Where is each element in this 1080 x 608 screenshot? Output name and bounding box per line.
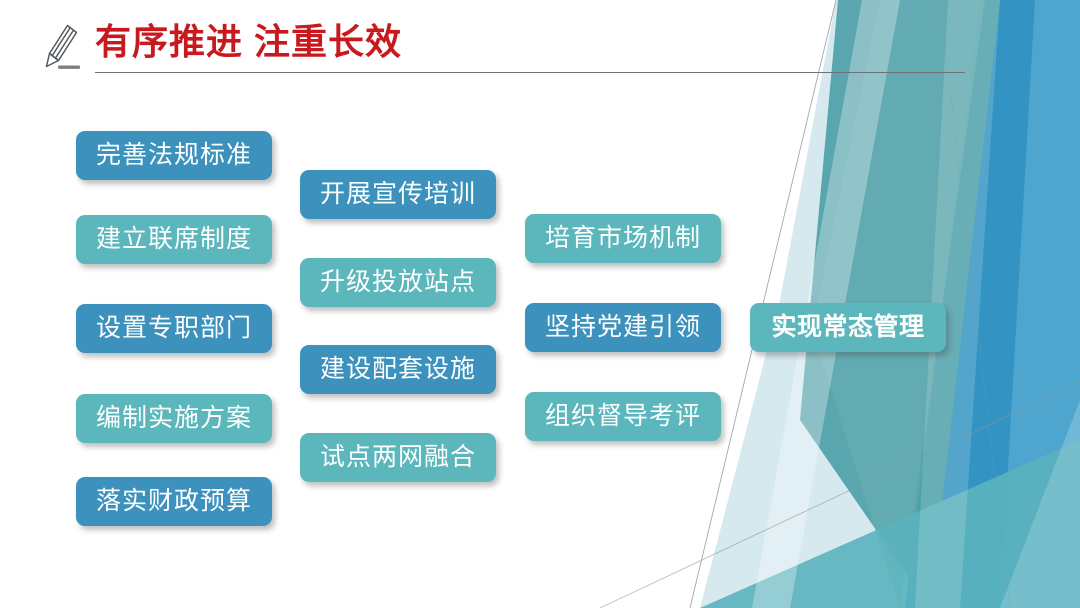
flow-box-label: 升级投放站点: [320, 270, 476, 295]
flow-diagram: 完善法规标准建立联席制度设置专职部门编制实施方案落实财政预算开展宣传培训升级投放…: [0, 0, 1080, 608]
flow-box-2-3[interactable]: 建设配套设施: [300, 345, 496, 394]
flow-box-3-1[interactable]: 培育市场机制: [525, 214, 721, 263]
flow-box-label: 试点两网融合: [320, 445, 476, 470]
flow-box-1-2[interactable]: 建立联席制度: [76, 215, 272, 264]
flow-box-1-1[interactable]: 完善法规标准: [76, 131, 272, 180]
flow-box-label: 完善法规标准: [96, 143, 252, 168]
flow-box-label: 编制实施方案: [96, 406, 252, 431]
flow-box-2-1[interactable]: 开展宣传培训: [300, 170, 496, 219]
flow-box-4-1[interactable]: 实现常态管理: [750, 303, 946, 352]
flow-box-label: 开展宣传培训: [320, 182, 476, 207]
flow-box-label: 落实财政预算: [96, 489, 252, 514]
flow-box-2-2[interactable]: 升级投放站点: [300, 258, 496, 307]
flow-box-label: 建设配套设施: [320, 357, 476, 382]
flow-box-label: 组织督导考评: [545, 404, 701, 429]
slide-canvas: 有序推进 注重长效 完善法规标准建立联席制度设置专职部门编制实施方案落实财政预算…: [0, 0, 1080, 608]
flow-box-1-4[interactable]: 编制实施方案: [76, 394, 272, 443]
flow-box-1-3[interactable]: 设置专职部门: [76, 304, 272, 353]
flow-box-3-2[interactable]: 坚持党建引领: [525, 303, 721, 352]
flow-box-label: 设置专职部门: [96, 316, 252, 341]
flow-box-1-5[interactable]: 落实财政预算: [76, 477, 272, 526]
flow-box-label: 坚持党建引领: [545, 315, 701, 340]
flow-box-label: 培育市场机制: [545, 226, 701, 251]
flow-box-label: 实现常态管理: [771, 315, 924, 340]
flow-box-3-3[interactable]: 组织督导考评: [525, 392, 721, 441]
flow-box-2-4[interactable]: 试点两网融合: [300, 433, 496, 482]
flow-box-label: 建立联席制度: [96, 227, 252, 252]
